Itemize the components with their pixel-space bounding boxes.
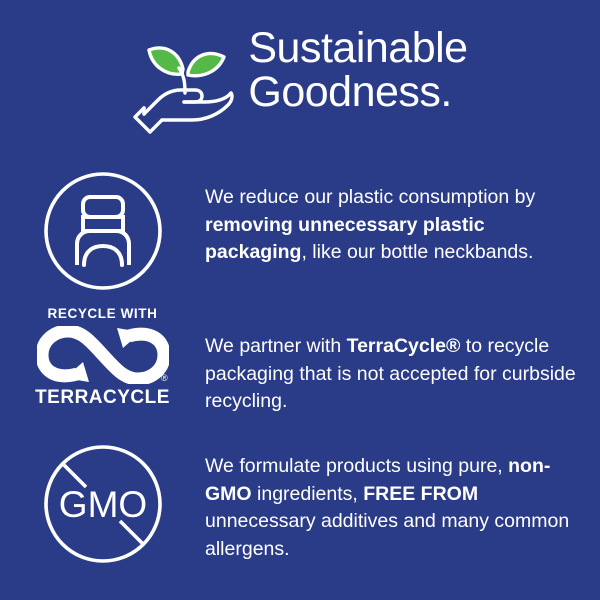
sustainable-goodness-infographic: Sustainable Goodness. We reduce our plas… — [0, 0, 600, 600]
feature-text-gmo: We formulate products using pure, non-GM… — [205, 443, 600, 564]
feature-row-plastic: We reduce our plastic consumption by rem… — [0, 170, 600, 292]
feature-row-gmo: GMO We formulate products using pure, no… — [0, 443, 600, 565]
text-part: We partner with — [205, 335, 347, 357]
hand-holding-sprout-icon — [132, 30, 240, 134]
no-gmo-icon: GMO — [42, 443, 164, 565]
text-part: ingredients, — [252, 483, 364, 505]
page-title: Sustainable Goodness. — [248, 22, 467, 115]
feature-row-terracycle: RECYCLE WITH ® TERRACYCLE We partner w — [0, 305, 600, 416]
icon-cell — [0, 170, 205, 292]
header: Sustainable Goodness. — [0, 22, 600, 134]
terracycle-top-label: RECYCLE WITH — [48, 307, 158, 321]
feature-text-terracycle: We partner with TerraCycle® to recycle p… — [205, 305, 600, 416]
text-part-bold: TerraCycle® — [347, 335, 461, 357]
plastic-bottle-in-circle-icon — [42, 170, 164, 292]
text-part: unnecessary additives and many common al… — [205, 510, 569, 560]
feature-text-plastic: We reduce our plastic consumption by rem… — [205, 170, 600, 267]
text-part: We formulate products using pure, — [205, 455, 508, 477]
infinity-recycle-arrows-icon: ® — [37, 326, 169, 384]
gmo-label: GMO — [58, 484, 146, 525]
text-part-bold: FREE FROM — [363, 483, 478, 505]
terracycle-bottom-label: TERRACYCLE — [35, 388, 170, 407]
icon-cell: GMO — [0, 443, 205, 565]
text-part: We reduce our plastic consumption by — [205, 186, 535, 208]
icon-cell: RECYCLE WITH ® TERRACYCLE — [0, 305, 205, 407]
text-part: , like our bottle neckbands. — [301, 241, 533, 263]
svg-text:®: ® — [161, 373, 168, 383]
terracycle-logo: RECYCLE WITH ® TERRACYCLE — [35, 307, 171, 407]
